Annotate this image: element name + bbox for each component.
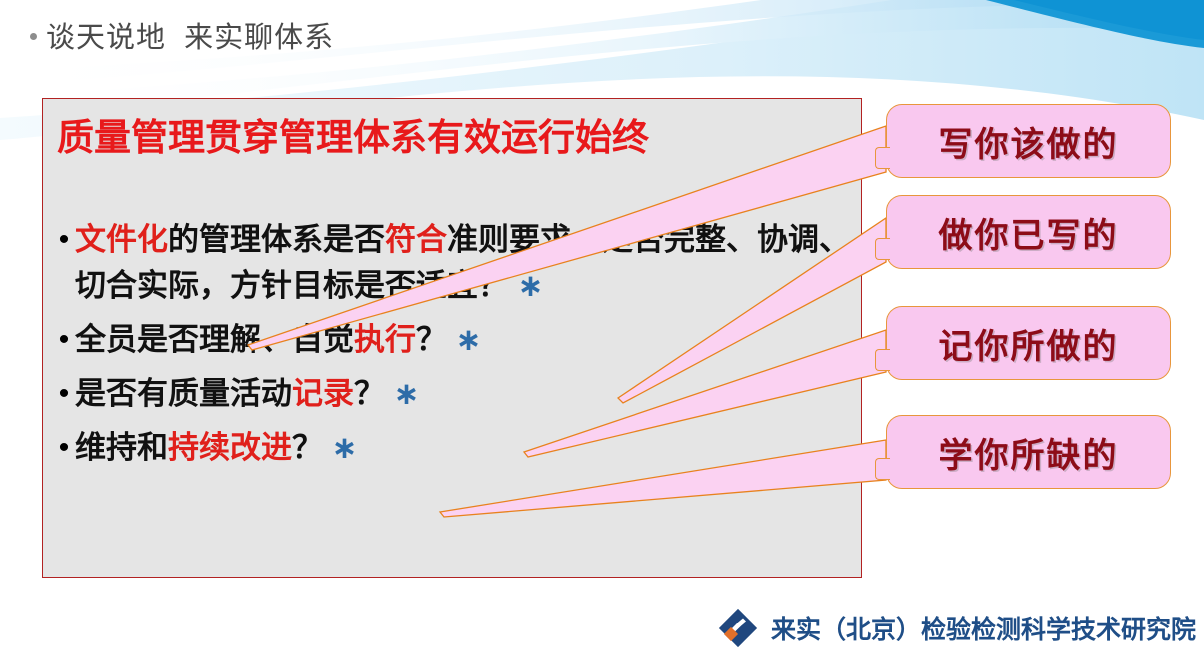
bullet-3-seg-3: ？ — [354, 376, 394, 411]
bullet-4-seg-1: 维持和 — [75, 430, 168, 465]
bullet-2-seg-3: ？ — [416, 322, 456, 357]
bullet-item-1: • 文件化的管理体系是否符合准则要求，是否完整、协调、切合实际，方针目标是否适宜… — [53, 217, 858, 309]
header-text: 谈天说地 来实聊体系 — [46, 14, 334, 56]
bullet-marker-icon: • — [53, 425, 75, 471]
bullet-1-seg-1: 文件化 — [75, 222, 168, 257]
bullet-4-seg-3: ？ — [292, 430, 332, 465]
bullet-dot-icon — [30, 33, 37, 40]
bullet-2-seg-1: 全员是否理解、自觉 — [75, 322, 354, 357]
bullet-1-seg-2: 的管理体系是否 — [168, 222, 385, 257]
bullet-marker-icon: • — [53, 371, 75, 417]
bullet-1-star-icon: ∗ — [518, 268, 544, 303]
bullet-text-4: 维持和持续改进？ ∗ — [75, 425, 858, 471]
bullet-1-seg-3: 符合 — [385, 222, 447, 257]
bullet-4-seg-2: 持续改进 — [168, 430, 292, 465]
callout-record-what-you-did[interactable]: 记你所做的 — [886, 306, 1171, 380]
callout-write-what-you-should-do[interactable]: 写你该做的 — [886, 104, 1171, 178]
bullet-text-2: 全员是否理解、自觉执行？ ∗ — [75, 317, 858, 363]
callout-learn-what-you-lack[interactable]: 学你所缺的 — [886, 415, 1171, 489]
bullet-3-seg-2: 记录 — [292, 376, 354, 411]
bullet-marker-icon: • — [53, 217, 75, 263]
footer-text: 来实（北京）检验检测科学技术研究院 — [771, 610, 1196, 646]
bullet-list: • 文件化的管理体系是否符合准则要求，是否完整、协调、切合实际，方针目标是否适宜… — [53, 217, 858, 479]
footer: 来实（北京）检验检测科学技术研究院 — [717, 607, 1196, 649]
bullet-item-2: • 全员是否理解、自觉执行？ ∗ — [53, 317, 858, 363]
bullet-2-star-icon: ∗ — [456, 322, 482, 357]
bullet-3-seg-1: 是否有质量活动 — [75, 376, 292, 411]
bullet-text-1: 文件化的管理体系是否符合准则要求，是否完整、协调、切合实际，方针目标是否适宜？ … — [75, 217, 858, 309]
bullet-text-3: 是否有质量活动记录？ ∗ — [75, 371, 858, 417]
callout-do-what-you-wrote[interactable]: 做你已写的 — [886, 195, 1171, 269]
panel-title: 质量管理贯穿管理体系有效运行始终 — [57, 107, 852, 161]
bullet-2-seg-2: 执行 — [354, 322, 416, 357]
slide-canvas: 谈天说地 来实聊体系 质量管理贯穿管理体系有效运行始终 • 文件化的管理体系是否… — [0, 0, 1204, 657]
bullet-item-3: • 是否有质量活动记录？ ∗ — [53, 371, 858, 417]
callout-4-text: 学你所缺的 — [939, 428, 1119, 477]
callout-1-text: 写你该做的 — [939, 117, 1119, 166]
bullet-marker-icon: • — [53, 317, 75, 363]
callout-2-text: 做你已写的 — [939, 208, 1119, 257]
slide-header: 谈天说地 来实聊体系 — [30, 14, 334, 56]
bullet-4-star-icon: ∗ — [332, 430, 358, 465]
diamond-logo-icon — [717, 607, 759, 649]
bullet-item-4: • 维持和持续改进？ ∗ — [53, 425, 858, 471]
bullet-3-star-icon: ∗ — [394, 376, 420, 411]
content-panel: 质量管理贯穿管理体系有效运行始终 • 文件化的管理体系是否符合准则要求，是否完整… — [42, 98, 862, 578]
callout-3-text: 记你所做的 — [939, 319, 1119, 368]
